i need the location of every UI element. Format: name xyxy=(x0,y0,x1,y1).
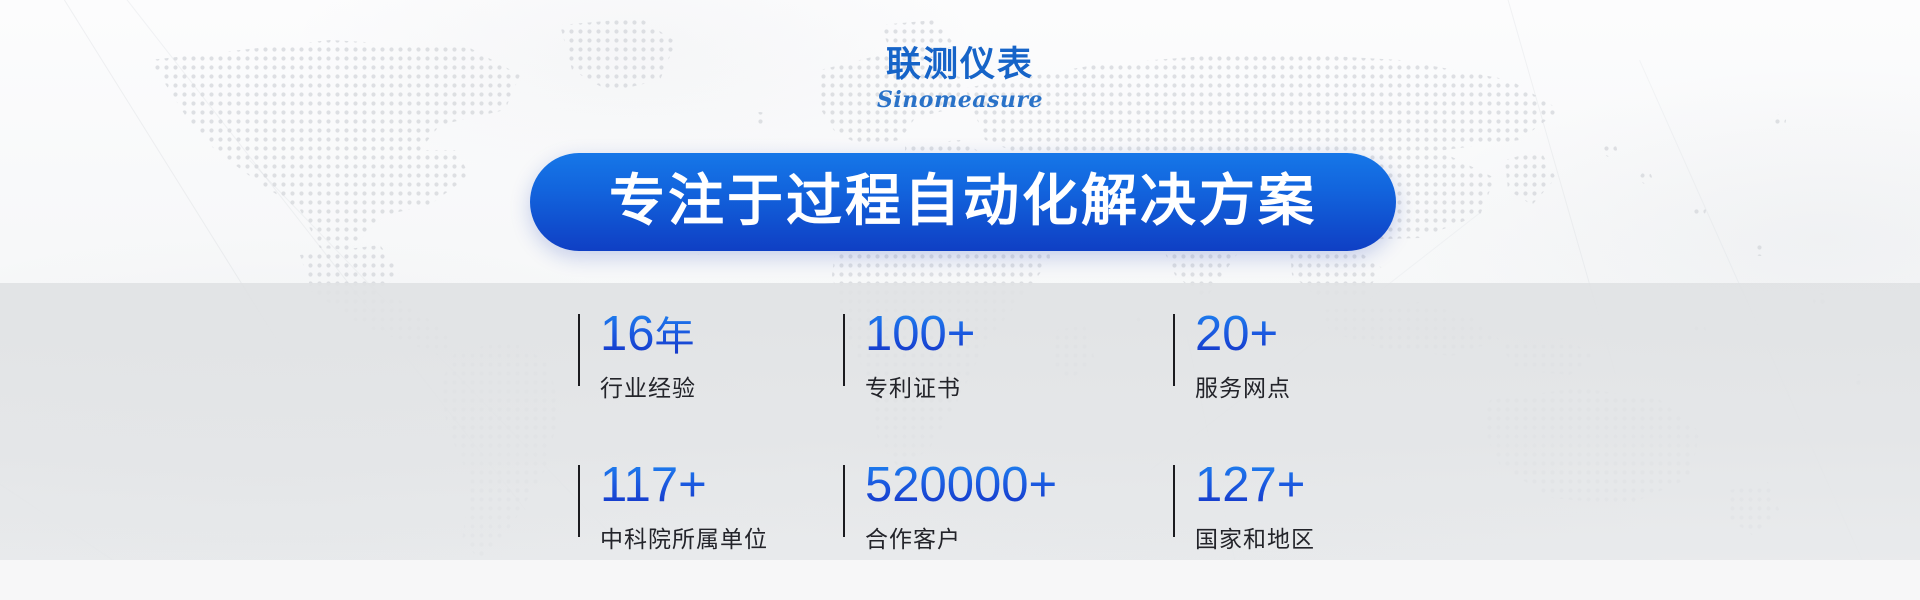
stat-rule xyxy=(1173,465,1175,537)
logo-text-en: Sinomeasure xyxy=(0,89,1920,111)
stat-label: 行业经验 xyxy=(600,369,843,403)
stat-label: 服务网点 xyxy=(1195,369,1291,403)
stat-label: 国家和地区 xyxy=(1195,520,1315,554)
stat-value: 20+ xyxy=(1195,310,1291,360)
stat-rule xyxy=(843,465,845,537)
stats-row: 117+ 中科院所属单位 520000+ 合作客户 127+ 国家和地区 xyxy=(578,461,1378,554)
stat-item-countries: 127+ 国家和地区 xyxy=(1173,461,1315,554)
stat-item-service-points: 20+ 服务网点 xyxy=(1173,310,1291,403)
logo-text-cn: 联测仪表 xyxy=(0,48,1920,83)
marble-vein xyxy=(0,470,229,600)
stat-item-years: 16年 行业经验 xyxy=(578,310,843,403)
stat-rule xyxy=(1173,314,1175,386)
promo-banner: 联测仪表 Sinomeasure 专注于过程自动化解决方案 16年 行业经验 1… xyxy=(0,0,1920,600)
stat-value: 100+ xyxy=(865,310,1173,360)
stat-item-customers: 520000+ 合作客户 xyxy=(843,461,1173,554)
stats-row: 16年 行业经验 100+ 专利证书 20+ 服务网点 xyxy=(578,310,1378,403)
stat-label: 合作客户 xyxy=(865,520,1173,554)
stat-rule xyxy=(578,314,580,386)
marble-vein xyxy=(1639,60,1868,572)
stat-label: 中科院所属单位 xyxy=(600,520,843,554)
stats-grid: 16年 行业经验 100+ 专利证书 20+ 服务网点 117+ 中科院所属单位 xyxy=(578,310,1378,554)
stat-value: 117+ xyxy=(600,461,843,511)
bottom-band xyxy=(0,560,1920,600)
company-logo: 联测仪表 Sinomeasure xyxy=(0,48,1920,111)
stat-item-patents: 100+ 专利证书 xyxy=(843,310,1173,403)
stat-rule xyxy=(578,465,580,537)
stat-value: 127+ xyxy=(1195,461,1315,511)
headline-pill: 专注于过程自动化解决方案 xyxy=(530,153,1396,251)
stat-label: 专利证书 xyxy=(865,369,1173,403)
stat-value: 16年 xyxy=(600,310,843,360)
stat-value: 520000+ xyxy=(865,461,1173,511)
headline-text: 专注于过程自动化解决方案 xyxy=(609,174,1317,230)
stat-rule xyxy=(843,314,845,386)
stat-item-cas-units: 117+ 中科院所属单位 xyxy=(578,461,843,554)
